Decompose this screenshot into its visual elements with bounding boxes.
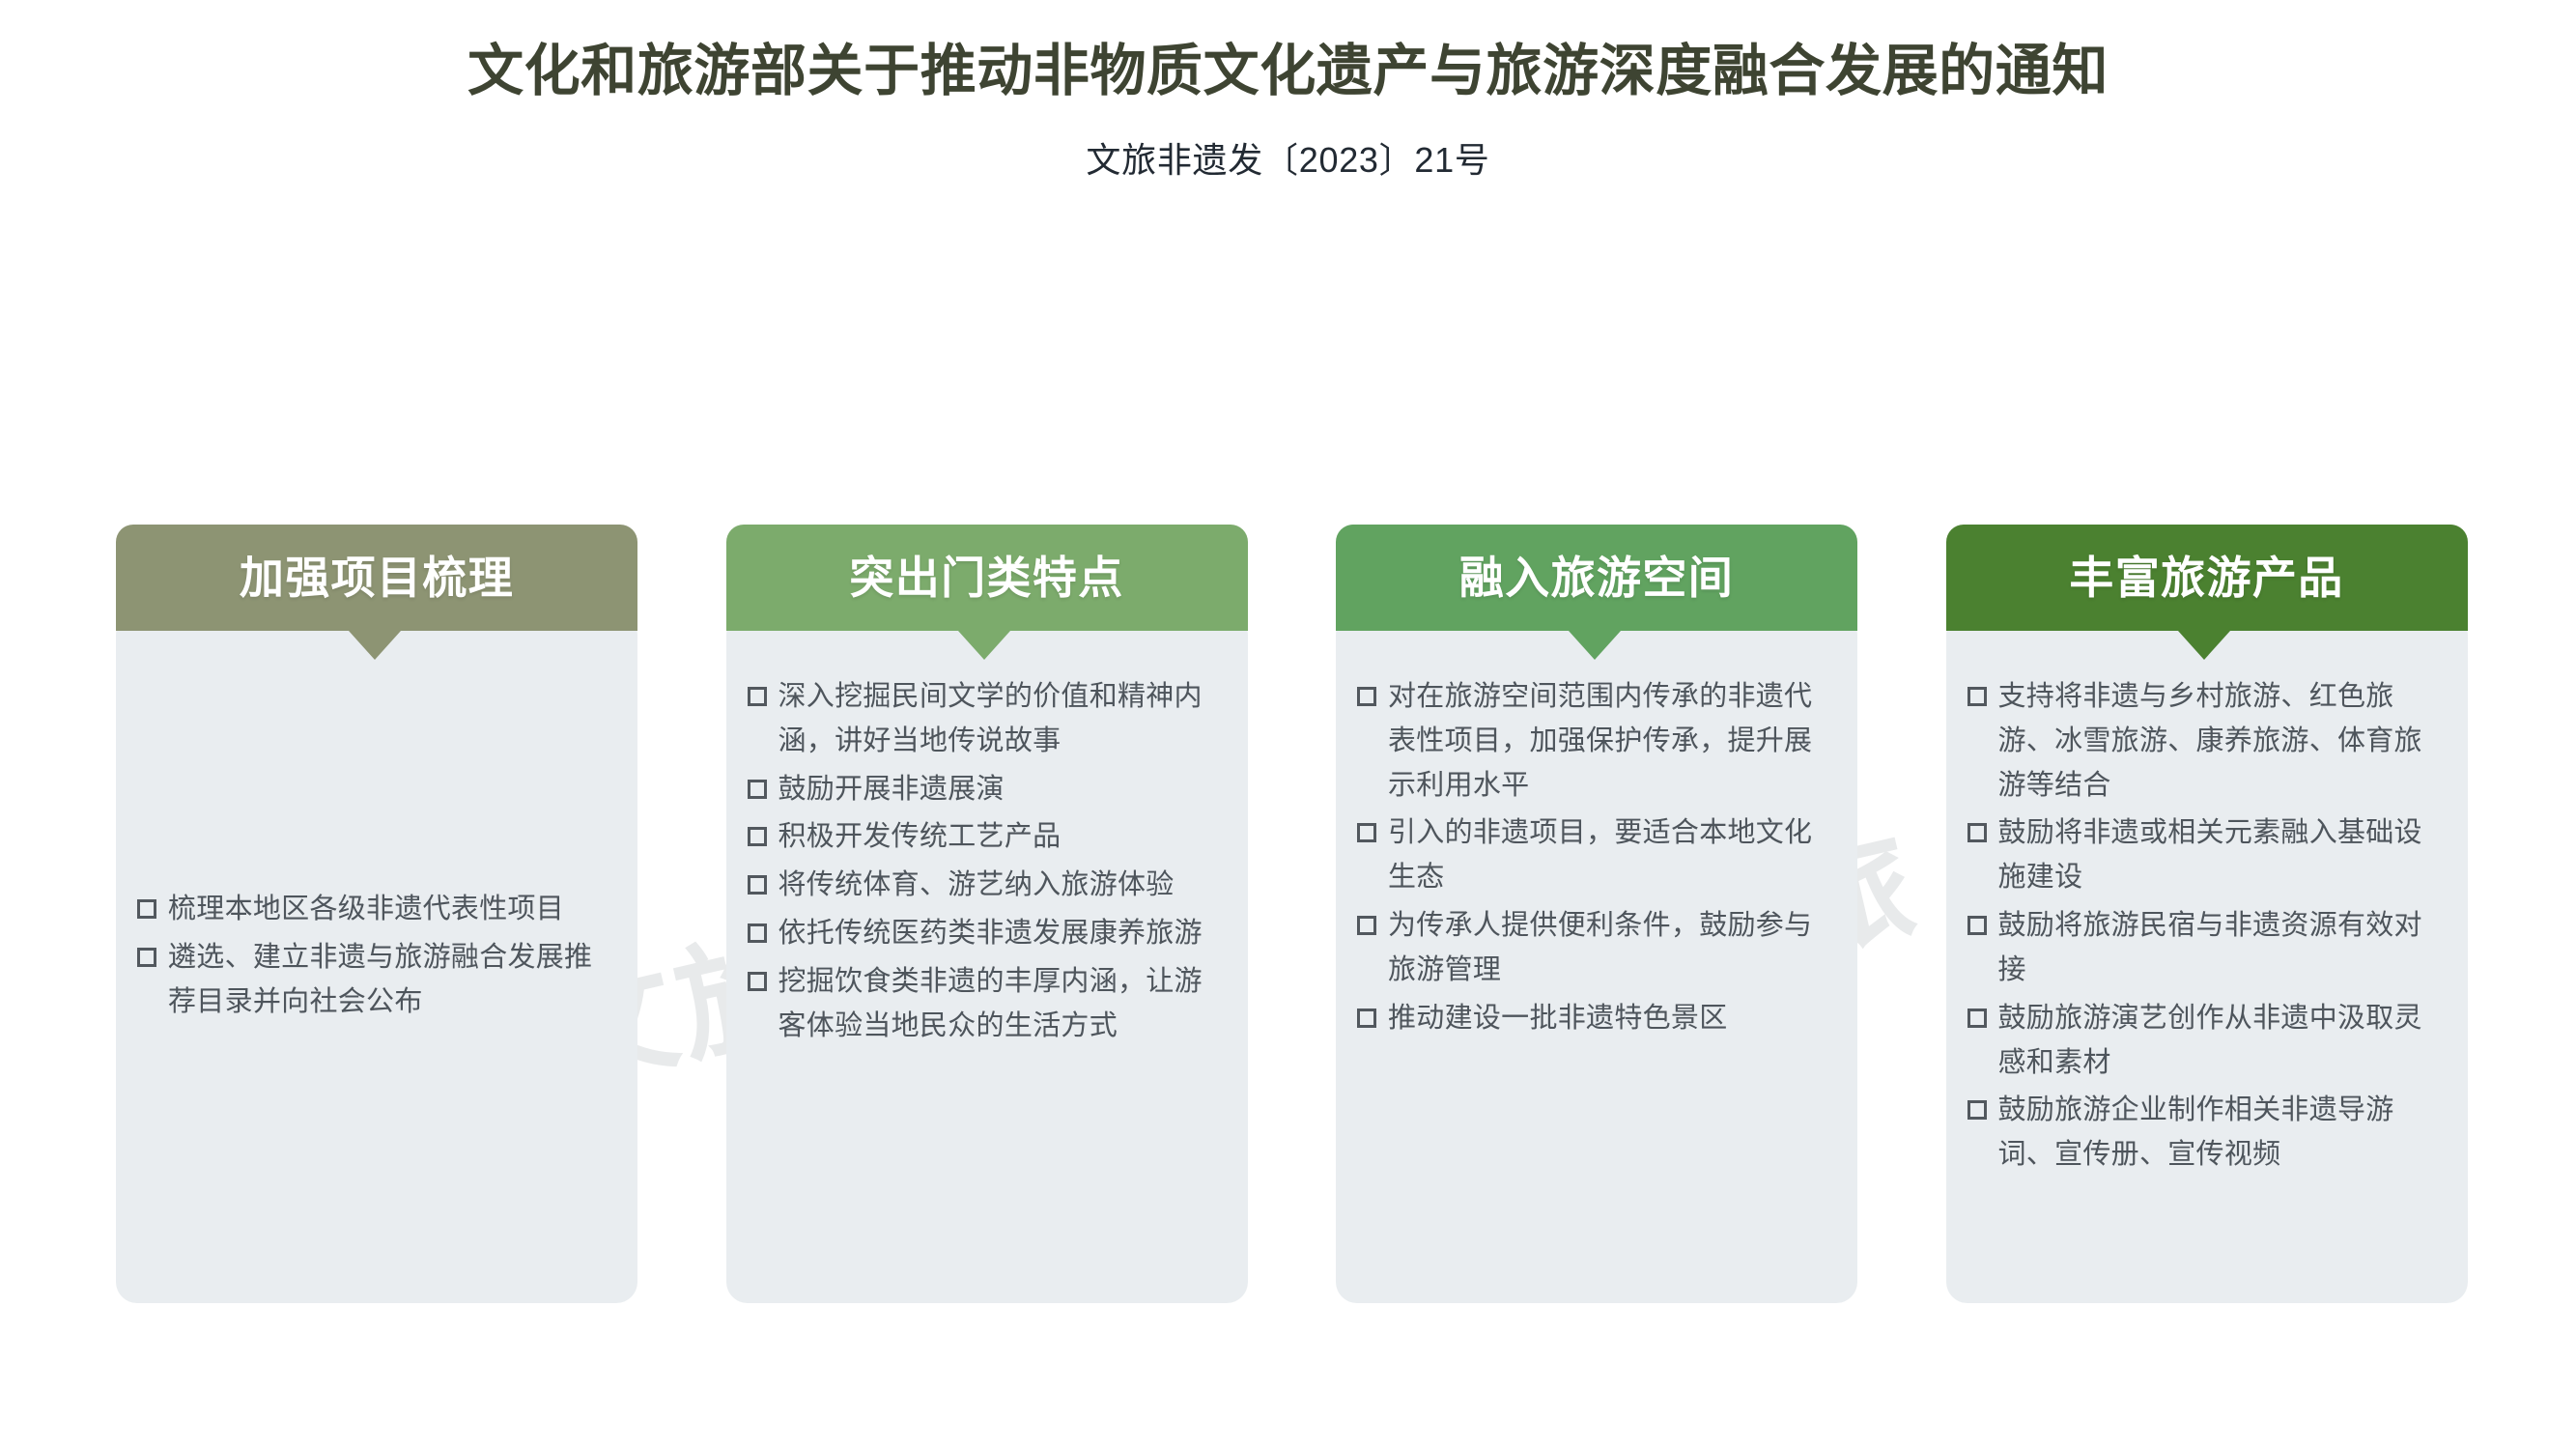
card-header[interactable]: 丰富旅游产品: [1946, 525, 2468, 631]
checkbox-square-icon: [137, 899, 156, 919]
card-header-title: 融入旅游空间: [1459, 555, 1734, 600]
checkbox-square-icon: [137, 948, 156, 967]
checkbox-square-icon: [1967, 1100, 1987, 1120]
list-item-label: 鼓励将旅游民宿与非遗资源有效对接: [1998, 904, 2439, 993]
card-header[interactable]: 融入旅游空间: [1336, 525, 1857, 631]
list-item-label: 引入的非遗项目，要适合本地文化生态: [1388, 811, 1828, 900]
card-header[interactable]: 突出门类特点: [726, 525, 1248, 631]
card-body: 梳理本地区各级非遗代表性项目遴选、建立非遗与旅游融合发展推荐目录并向社会公布: [116, 613, 637, 1303]
card-pointer-triangle-icon: [2178, 631, 2230, 660]
card-body: 对在旅游空间范围内传承的非遗代表性项目，加强保护传承，提升展示利用水平引入的非遗…: [1336, 613, 1857, 1303]
list-item-label: 积极开发传统工艺产品: [778, 815, 1219, 860]
list-item-label: 深入挖掘民间文学的价值和精神内涵，讲好当地传说故事: [778, 675, 1219, 764]
list-item: 鼓励开展非遗展演: [748, 768, 1219, 812]
list-item-label: 推动建设一批非遗特色景区: [1388, 997, 1828, 1041]
checkbox-square-icon: [1357, 687, 1376, 706]
list-item: 将传统体育、游艺纳入旅游体验: [748, 864, 1219, 908]
card-header-title: 丰富旅游产品: [2069, 555, 2343, 600]
bullet-list: 梳理本地区各级非遗代表性项目遴选、建立非遗与旅游融合发展推荐目录并向社会公布: [137, 888, 609, 1028]
card: 梳理本地区各级非遗代表性项目遴选、建立非遗与旅游融合发展推荐目录并向社会公布加强…: [116, 525, 634, 1303]
page-title: 文化和旅游部关于推动非物质文化遗产与旅游深度融合发展的通知: [0, 37, 2576, 107]
list-item: 鼓励将旅游民宿与非遗资源有效对接: [1967, 904, 2439, 993]
list-item-label: 鼓励开展非遗展演: [778, 768, 1219, 812]
card-grid: 梳理本地区各级非遗代表性项目遴选、建立非遗与旅游融合发展推荐目录并向社会公布加强…: [116, 525, 2463, 1307]
list-item-label: 鼓励旅游演艺创作从非遗中汲取灵感和素材: [1998, 997, 2439, 1086]
list-item-label: 鼓励旅游企业制作相关非遗导游词、宣传册、宣传视频: [1998, 1089, 2439, 1178]
card: 对在旅游空间范围内传承的非遗代表性项目，加强保护传承，提升展示利用水平引入的非遗…: [1336, 525, 1854, 1303]
checkbox-square-icon: [748, 827, 767, 846]
list-item: 鼓励将非遗或相关元素融入基础设施建设: [1967, 811, 2439, 900]
list-item-label: 挖掘饮食类非遗的丰厚内涵，让游客体验当地民众的生活方式: [778, 960, 1219, 1049]
checkbox-square-icon: [748, 923, 767, 943]
checkbox-square-icon: [748, 780, 767, 799]
checkbox-square-icon: [748, 875, 767, 895]
list-item-label: 为传承人提供便利条件，鼓励参与旅游管理: [1388, 904, 1828, 993]
list-item-label: 依托传统医药类非遗发展康养旅游: [778, 912, 1219, 956]
bullet-list: 对在旅游空间范围内传承的非遗代表性项目，加强保护传承，提升展示利用水平引入的非遗…: [1357, 675, 1828, 1045]
list-item: 积极开发传统工艺产品: [748, 815, 1219, 860]
card: 支持将非遗与乡村旅游、红色旅游、冰雪旅游、康养旅游、体育旅游等结合鼓励将非遗或相…: [1946, 525, 2464, 1303]
card-pointer-triangle-icon: [1569, 631, 1621, 660]
card-header-title: 加强项目梳理: [240, 555, 514, 600]
list-item: 依托传统医药类非遗发展康养旅游: [748, 912, 1219, 956]
list-item-label: 支持将非遗与乡村旅游、红色旅游、冰雪旅游、康养旅游、体育旅游等结合: [1998, 675, 2439, 808]
document-header: 文化和旅游部关于推动非物质文化遗产与旅游深度融合发展的通知 文旅非遗发〔2023…: [0, 0, 2576, 183]
list-item: 深入挖掘民间文学的价值和精神内涵，讲好当地传说故事: [748, 675, 1219, 764]
card-body: 支持将非遗与乡村旅游、红色旅游、冰雪旅游、康养旅游、体育旅游等结合鼓励将非遗或相…: [1946, 613, 2468, 1303]
list-item: 挖掘饮食类非遗的丰厚内涵，让游客体验当地民众的生活方式: [748, 960, 1219, 1049]
list-item: 遴选、建立非遗与旅游融合发展推荐目录并向社会公布: [137, 936, 609, 1025]
checkbox-square-icon: [1357, 823, 1376, 842]
infographic-page: 中合文旅 中合文旅 文化和旅游部关于推动非物质文化遗产与旅游深度融合发展的通知 …: [0, 0, 2576, 1449]
list-item: 为传承人提供便利条件，鼓励参与旅游管理: [1357, 904, 1828, 993]
list-item: 鼓励旅游演艺创作从非遗中汲取灵感和素材: [1967, 997, 2439, 1086]
card-pointer-triangle-icon: [958, 631, 1010, 660]
list-item: 支持将非遗与乡村旅游、红色旅游、冰雪旅游、康养旅游、体育旅游等结合: [1967, 675, 2439, 808]
document-number: 文旅非遗发〔2023〕21号: [0, 132, 2576, 183]
checkbox-square-icon: [748, 687, 767, 706]
list-item: 鼓励旅游企业制作相关非遗导游词、宣传册、宣传视频: [1967, 1089, 2439, 1178]
list-item-label: 鼓励将非遗或相关元素融入基础设施建设: [1998, 811, 2439, 900]
checkbox-square-icon: [1357, 1009, 1376, 1028]
checkbox-square-icon: [748, 972, 767, 991]
card: 深入挖掘民间文学的价值和精神内涵，讲好当地传说故事鼓励开展非遗展演积极开发传统工…: [726, 525, 1244, 1303]
checkbox-square-icon: [1967, 1009, 1987, 1028]
card-header[interactable]: 加强项目梳理: [116, 525, 637, 631]
list-item: 引入的非遗项目，要适合本地文化生态: [1357, 811, 1828, 900]
list-item: 推动建设一批非遗特色景区: [1357, 997, 1828, 1041]
list-item-label: 对在旅游空间范围内传承的非遗代表性项目，加强保护传承，提升展示利用水平: [1388, 675, 1828, 808]
card-pointer-triangle-icon: [349, 631, 401, 660]
checkbox-square-icon: [1357, 916, 1376, 935]
bullet-list: 深入挖掘民间文学的价值和精神内涵，讲好当地传说故事鼓励开展非遗展演积极开发传统工…: [748, 675, 1219, 1053]
list-item: 对在旅游空间范围内传承的非遗代表性项目，加强保护传承，提升展示利用水平: [1357, 675, 1828, 808]
list-item: 梳理本地区各级非遗代表性项目: [137, 888, 609, 932]
card-header-title: 突出门类特点: [849, 555, 1123, 600]
bullet-list: 支持将非遗与乡村旅游、红色旅游、冰雪旅游、康养旅游、体育旅游等结合鼓励将非遗或相…: [1967, 675, 2439, 1181]
list-item-label: 遴选、建立非遗与旅游融合发展推荐目录并向社会公布: [168, 936, 609, 1025]
checkbox-square-icon: [1967, 823, 1987, 842]
list-item-label: 将传统体育、游艺纳入旅游体验: [778, 864, 1219, 908]
checkbox-square-icon: [1967, 916, 1987, 935]
card-body: 深入挖掘民间文学的价值和精神内涵，讲好当地传说故事鼓励开展非遗展演积极开发传统工…: [726, 613, 1248, 1303]
list-item-label: 梳理本地区各级非遗代表性项目: [168, 888, 609, 932]
checkbox-square-icon: [1967, 687, 1987, 706]
